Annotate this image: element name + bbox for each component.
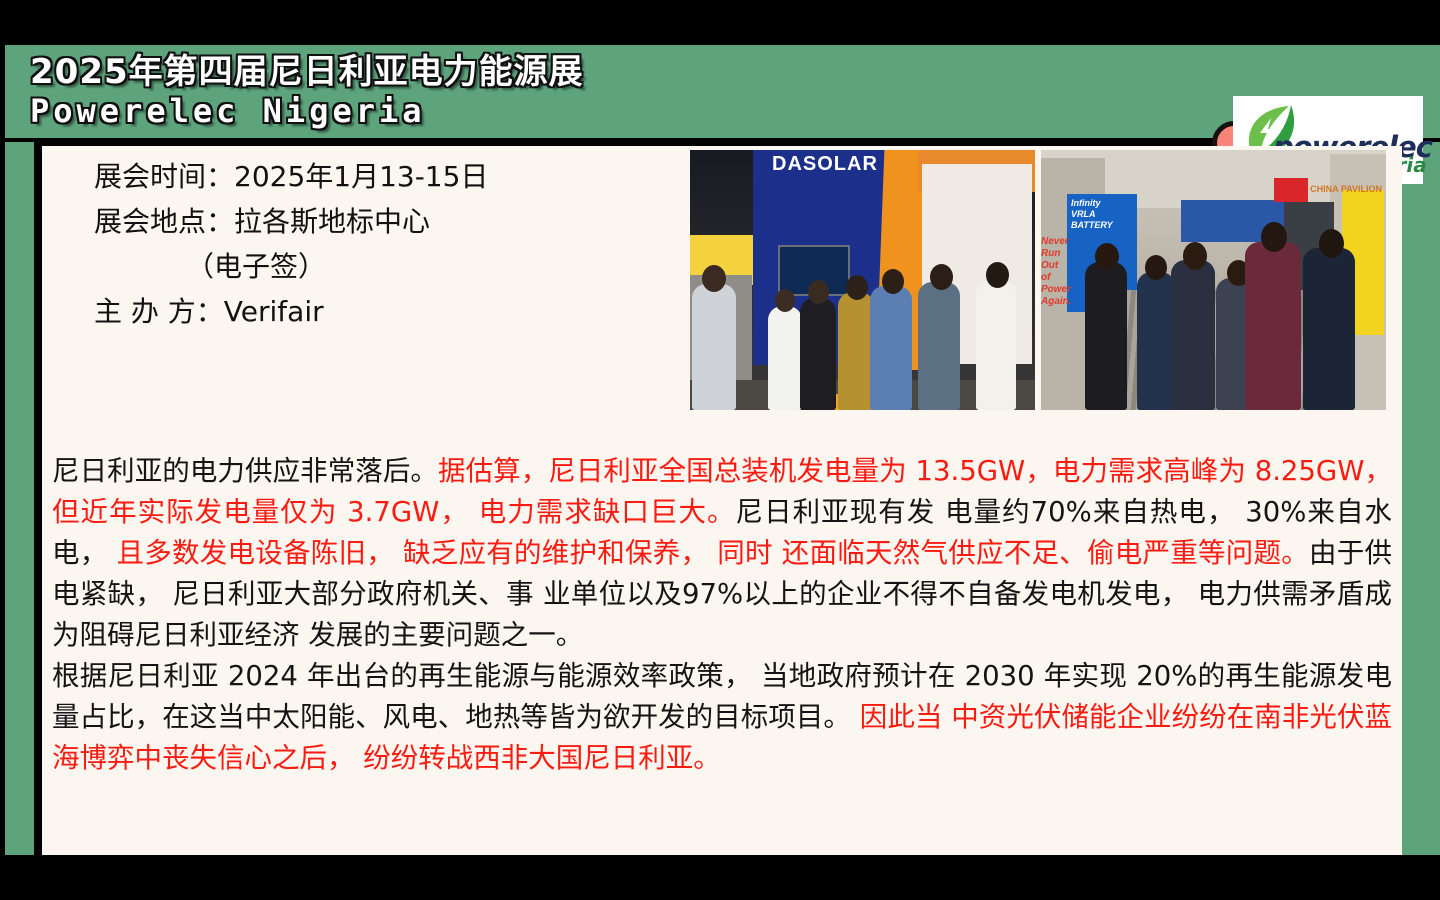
china-pavilion-sign: CHINA PAVILION (1310, 184, 1382, 194)
photo-strip: DASOLAR (690, 150, 1390, 410)
article-paragraph-1: 尼日利亚的电力供应非常落后。据估算，尼日利亚全国总装机发电量为 13.5GW，电… (52, 451, 1392, 656)
left-green-border (5, 45, 34, 855)
slide-viewer: 2025年第四届尼日利亚电力能源展 Powerelec Nigeria powe… (0, 0, 1440, 900)
header-title-chinese: 2025年第四届尼日利亚电力能源展 (30, 52, 584, 92)
article-paragraph-2: 根据尼日利亚 2024 年出台的再生能源与能源效率政策， 当地政府预计在 203… (52, 656, 1392, 779)
slide-frame: 2025年第四届尼日利亚电力能源展 Powerelec Nigeria powe… (0, 45, 1440, 855)
booth-brand-text: DASOLAR (772, 153, 878, 176)
event-organizer-line: 主 办 方：Verifair (94, 289, 488, 334)
event-date-line: 展会时间：2025年1月13-15日 (94, 154, 488, 199)
article-span-red: 且多数发电设备陈旧， 缺乏应有的维护和保养， 同时 还面临天然气供应不足、偷电严… (108, 537, 1310, 569)
header-title-english: Powerelec Nigeria (30, 92, 584, 130)
infinity-banner-text: Infinity VRLA BATTERY (1071, 198, 1133, 231)
article-span: 尼日利亚的电力供应非常落后。 (52, 455, 438, 487)
dasolar-booth-photo: DASOLAR (690, 150, 1035, 410)
article-body: 尼日利亚的电力供应非常落后。据估算，尼日利亚全国总装机发电量为 13.5GW，电… (52, 451, 1392, 779)
header-title-group: 2025年第四届尼日利亚电力能源展 Powerelec Nigeria (30, 52, 584, 130)
slide-content-sheet: 展会时间：2025年1月13-15日 展会地点：拉各斯地标中心 （电子签） 主 … (42, 146, 1402, 855)
event-visa-note: （电子签） (94, 244, 488, 289)
china-pavilion-aisle-photo: Infinity VRLA BATTERY Never Run Out of P… (1041, 150, 1386, 410)
event-venue-line: 展会地点：拉各斯地标中心 (94, 199, 488, 244)
slide-header: 2025年第四届尼日利亚电力能源展 Powerelec Nigeria powe… (5, 45, 1440, 142)
event-info-block: 展会时间：2025年1月13-15日 展会地点：拉各斯地标中心 （电子签） 主 … (94, 154, 488, 334)
china-flag-icon (1274, 178, 1308, 202)
